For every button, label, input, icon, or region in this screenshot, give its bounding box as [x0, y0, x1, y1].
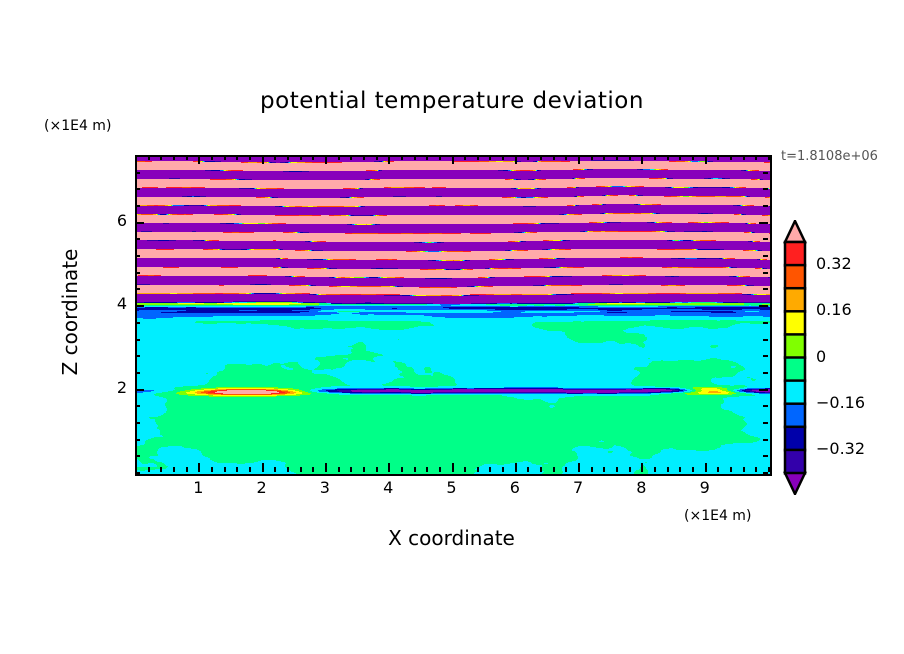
- tick-mark: [300, 155, 302, 160]
- colorbar-band: [785, 358, 805, 382]
- tick-mark: [667, 155, 669, 160]
- tick-mark: [363, 467, 365, 472]
- tick-mark: [388, 155, 390, 164]
- tick-mark: [743, 467, 745, 472]
- tick-mark: [763, 422, 768, 424]
- colorbar-tick-label: 0: [816, 347, 826, 366]
- tick-mark: [274, 467, 276, 472]
- tick-mark: [591, 155, 593, 160]
- tick-mark: [654, 467, 656, 472]
- tick-mark: [198, 155, 200, 164]
- tick-mark: [763, 288, 768, 290]
- tick-mark: [527, 155, 529, 160]
- tick-mark: [755, 467, 757, 472]
- tick-mark: [763, 188, 768, 190]
- tick-mark: [763, 472, 768, 474]
- tick-mark: [763, 455, 768, 457]
- contour-plot-area: [135, 155, 772, 476]
- tick-mark: [763, 205, 768, 207]
- tick-mark: [705, 155, 707, 164]
- tick-mark: [679, 467, 681, 472]
- tick-mark: [135, 188, 140, 190]
- tick-mark: [135, 305, 144, 307]
- tick-mark: [338, 467, 340, 472]
- y-axis-title: Z coordinate: [58, 212, 82, 412]
- tick-mark: [338, 155, 340, 160]
- tick-mark: [312, 467, 314, 472]
- y-axis-units-label: (×1E4 m): [44, 118, 111, 134]
- tick-mark: [578, 463, 580, 472]
- figure-canvas: potential temperature deviation (×1E4 m)…: [0, 0, 904, 654]
- tick-mark: [414, 467, 416, 472]
- tick-mark: [135, 455, 140, 457]
- tick-mark: [502, 155, 504, 160]
- tick-mark: [730, 155, 732, 160]
- tick-mark: [763, 238, 768, 240]
- tick-mark: [591, 467, 593, 472]
- tick-mark: [224, 155, 226, 160]
- tick-mark: [401, 467, 403, 472]
- tick-mark: [578, 155, 580, 164]
- tick-mark: [641, 463, 643, 472]
- tick-mark: [439, 467, 441, 472]
- x-tick-label: 4: [373, 478, 403, 497]
- tick-mark: [515, 463, 517, 472]
- tick-mark: [502, 467, 504, 472]
- tick-mark: [679, 155, 681, 160]
- tick-mark: [236, 155, 238, 160]
- colorbar-tick-label: 0.16: [816, 300, 852, 319]
- colorbar-band: [785, 334, 805, 358]
- tick-mark: [135, 422, 140, 424]
- tick-mark: [135, 389, 144, 391]
- tick-mark: [692, 467, 694, 472]
- colorbar-under-cap: [785, 473, 805, 494]
- colorbar-tick-label: 0.32: [816, 254, 852, 273]
- tick-mark: [325, 463, 327, 472]
- tick-mark: [376, 155, 378, 160]
- x-tick-label: 6: [500, 478, 530, 497]
- colorbar-band: [785, 242, 805, 266]
- y-tick-label: 2: [103, 378, 127, 397]
- tick-mark: [763, 405, 768, 407]
- tick-mark: [211, 467, 213, 472]
- tick-mark: [388, 463, 390, 472]
- tick-mark: [565, 467, 567, 472]
- tick-mark: [654, 155, 656, 160]
- tick-mark: [763, 155, 768, 157]
- tick-mark: [763, 322, 768, 324]
- tick-mark: [553, 467, 555, 472]
- tick-mark: [135, 339, 140, 341]
- time-annotation: t=1.8108e+06: [781, 149, 878, 164]
- tick-mark: [763, 272, 768, 274]
- tick-mark: [603, 155, 605, 160]
- tick-mark: [211, 155, 213, 160]
- tick-mark: [667, 467, 669, 472]
- tick-mark: [173, 467, 175, 472]
- tick-mark: [692, 155, 694, 160]
- tick-mark: [325, 155, 327, 164]
- x-tick-label: 8: [626, 478, 656, 497]
- x-tick-label: 3: [310, 478, 340, 497]
- tick-mark: [249, 155, 251, 160]
- colorbar: [780, 220, 812, 495]
- tick-mark: [300, 467, 302, 472]
- tick-mark: [186, 467, 188, 472]
- colorbar-band: [785, 427, 805, 451]
- tick-mark: [135, 288, 140, 290]
- tick-mark: [515, 155, 517, 164]
- colorbar-tick-label: −0.32: [816, 439, 865, 458]
- x-tick-label: 2: [247, 478, 277, 497]
- tick-mark: [135, 355, 140, 357]
- tick-mark: [274, 155, 276, 160]
- tick-mark: [262, 463, 264, 472]
- tick-mark: [452, 463, 454, 472]
- tick-mark: [489, 155, 491, 160]
- tick-mark: [135, 439, 140, 441]
- tick-mark: [414, 155, 416, 160]
- tick-mark: [135, 172, 140, 174]
- tick-mark: [363, 155, 365, 160]
- tick-mark: [186, 155, 188, 160]
- tick-mark: [616, 155, 618, 160]
- tick-mark: [262, 155, 264, 164]
- tick-mark: [616, 467, 618, 472]
- x-tick-label: 7: [563, 478, 593, 497]
- x-tick-label: 9: [690, 478, 720, 497]
- tick-mark: [312, 155, 314, 160]
- tick-mark: [759, 222, 768, 224]
- tick-mark: [135, 472, 140, 474]
- colorbar-band: [785, 311, 805, 335]
- contour-field: [137, 157, 770, 474]
- tick-mark: [350, 467, 352, 472]
- x-axis-title: X coordinate: [135, 526, 768, 550]
- tick-mark: [743, 155, 745, 160]
- tick-mark: [135, 222, 144, 224]
- tick-mark: [629, 155, 631, 160]
- colorbar-band: [785, 381, 805, 405]
- tick-mark: [763, 172, 768, 174]
- tick-mark: [730, 467, 732, 472]
- tick-mark: [426, 467, 428, 472]
- tick-mark: [755, 155, 757, 160]
- tick-mark: [135, 255, 140, 257]
- tick-mark: [160, 155, 162, 160]
- colorbar-svg: [780, 220, 812, 495]
- tick-mark: [224, 467, 226, 472]
- tick-mark: [763, 372, 768, 374]
- tick-mark: [148, 467, 150, 472]
- tick-mark: [477, 155, 479, 160]
- x-tick-label: 5: [437, 478, 467, 497]
- tick-mark: [236, 467, 238, 472]
- tick-mark: [135, 272, 140, 274]
- y-tick-label: 4: [103, 294, 127, 313]
- tick-mark: [401, 155, 403, 160]
- tick-mark: [565, 155, 567, 160]
- tick-mark: [135, 205, 140, 207]
- x-axis-units-label: (×1E4 m): [684, 508, 751, 524]
- colorbar-band: [785, 450, 805, 474]
- tick-mark: [198, 463, 200, 472]
- tick-mark: [629, 467, 631, 472]
- tick-mark: [464, 155, 466, 160]
- tick-mark: [489, 467, 491, 472]
- tick-mark: [763, 439, 768, 441]
- tick-mark: [705, 463, 707, 472]
- tick-mark: [160, 467, 162, 472]
- tick-mark: [464, 467, 466, 472]
- tick-mark: [452, 155, 454, 164]
- x-tick-label: 1: [183, 478, 213, 497]
- colorbar-tick-label: −0.16: [816, 393, 865, 412]
- tick-mark: [287, 155, 289, 160]
- tick-mark: [148, 155, 150, 160]
- colorbar-band: [785, 404, 805, 428]
- tick-mark: [287, 467, 289, 472]
- page-title: potential temperature deviation: [0, 88, 904, 114]
- colorbar-band: [785, 288, 805, 312]
- tick-mark: [477, 467, 479, 472]
- tick-mark: [553, 155, 555, 160]
- tick-mark: [763, 355, 768, 357]
- tick-mark: [376, 467, 378, 472]
- tick-mark: [763, 339, 768, 341]
- tick-mark: [759, 305, 768, 307]
- tick-mark: [768, 467, 770, 472]
- tick-mark: [135, 155, 140, 157]
- tick-mark: [350, 155, 352, 160]
- tick-mark: [135, 405, 140, 407]
- tick-mark: [439, 155, 441, 160]
- y-tick-label: 6: [103, 211, 127, 230]
- tick-mark: [249, 467, 251, 472]
- tick-mark: [135, 238, 140, 240]
- colorbar-over-cap: [785, 221, 805, 242]
- tick-mark: [173, 155, 175, 160]
- tick-mark: [717, 155, 719, 160]
- tick-mark: [426, 155, 428, 160]
- tick-mark: [527, 467, 529, 472]
- tick-mark: [768, 155, 770, 160]
- tick-mark: [763, 255, 768, 257]
- tick-mark: [759, 389, 768, 391]
- tick-mark: [603, 467, 605, 472]
- tick-mark: [135, 372, 140, 374]
- tick-mark: [540, 467, 542, 472]
- tick-mark: [540, 155, 542, 160]
- tick-mark: [135, 322, 140, 324]
- tick-mark: [641, 155, 643, 164]
- tick-mark: [717, 467, 719, 472]
- colorbar-band: [785, 265, 805, 289]
